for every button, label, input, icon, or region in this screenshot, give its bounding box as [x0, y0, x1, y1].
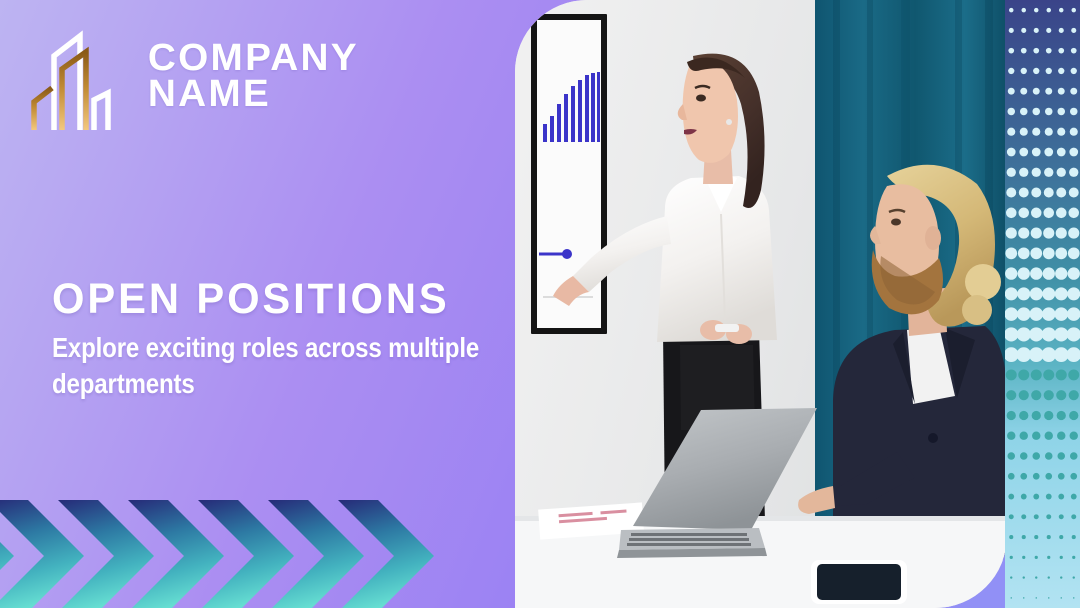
halftone-dot — [1044, 148, 1053, 157]
halftone-dot — [1070, 88, 1077, 95]
building-skyline-icon — [18, 14, 142, 138]
halftone-dot — [1071, 68, 1077, 74]
halftone-dot — [1073, 597, 1075, 599]
halftone-dot — [1030, 247, 1042, 259]
brand-name-line1: COMPANY — [148, 40, 359, 76]
halftone-dot — [1055, 247, 1067, 259]
halftone-dot — [1020, 452, 1028, 460]
halftone-dot — [1057, 411, 1066, 420]
halftone-dot — [1044, 168, 1053, 177]
halftone-dot — [1055, 267, 1067, 279]
halftone-dot — [1059, 514, 1064, 519]
halftone-dot — [1043, 228, 1054, 239]
halftone-dot — [1067, 287, 1080, 300]
halftone-dot — [1032, 108, 1040, 116]
halftone-dot — [1006, 369, 1017, 380]
halftone-dot — [1070, 452, 1078, 460]
halftone-dot — [1018, 228, 1029, 239]
halftone-dot — [1072, 535, 1076, 539]
halftone-dot — [1008, 68, 1014, 74]
halftone-dot — [1029, 307, 1043, 321]
halftone-dot — [1058, 473, 1065, 480]
halftone-dot — [1069, 148, 1078, 157]
halftone-dot — [1007, 128, 1015, 136]
halftone-dot — [1046, 494, 1052, 500]
halftone-dot — [1060, 556, 1063, 559]
smartphone — [811, 560, 907, 604]
halftone-dot — [1054, 327, 1068, 341]
halftone-dot — [1020, 88, 1027, 95]
halftone-dot — [1061, 597, 1063, 599]
halftone-dot — [1057, 108, 1065, 116]
halftone-dot — [1045, 108, 1053, 116]
halftone-dot — [1017, 327, 1031, 341]
halftone-dot — [1069, 390, 1079, 400]
halftone-dot — [1058, 48, 1064, 54]
halftone-dot — [1032, 148, 1041, 157]
halftone-dot — [1030, 287, 1043, 300]
chevron-band — [0, 500, 478, 608]
halftone-dot — [1044, 390, 1054, 400]
halftone-dot — [1059, 8, 1064, 13]
halftone-dot — [1033, 88, 1040, 95]
halftone-dot — [1043, 208, 1054, 219]
recruitment-poster: COMPANY NAME OPEN POSITIONS Explore exci… — [0, 0, 1080, 608]
halftone-dot — [1018, 247, 1030, 259]
halftone-dot — [1018, 369, 1029, 380]
halftone-dot — [1032, 432, 1040, 440]
meeting-photo — [515, 0, 1007, 608]
halftone-dot — [1031, 188, 1041, 198]
halftone-dot — [1009, 514, 1014, 519]
halftone-dot — [1057, 452, 1065, 460]
photo-illustration — [515, 0, 1007, 608]
halftone-dot — [1019, 168, 1028, 177]
halftone-dot — [1007, 148, 1016, 157]
halftone-dot — [1031, 390, 1041, 400]
halftone-dot — [1071, 494, 1077, 500]
halftone-dot — [1008, 88, 1015, 95]
halftone-dot — [1073, 576, 1075, 578]
halftone-dot — [1035, 556, 1038, 559]
halftone-dot — [1011, 597, 1013, 599]
halftone-dot — [1044, 188, 1054, 198]
halftone-dot — [1006, 208, 1017, 219]
halftone-dot — [1071, 514, 1076, 519]
subheadline: Explore exciting roles across multiple d… — [52, 330, 511, 402]
halftone-dot — [1045, 128, 1053, 136]
halftone-dot — [1069, 411, 1078, 420]
headline: OPEN POSITIONS — [52, 278, 498, 322]
halftone-dot — [1005, 267, 1017, 279]
halftone-dot — [1019, 188, 1029, 198]
halftone-dot — [1056, 369, 1067, 380]
halftone-dot — [1020, 432, 1028, 440]
halftone-dot — [1032, 452, 1040, 460]
halftone-dot — [1019, 411, 1028, 420]
halftone-dot — [1047, 535, 1051, 539]
halftone-dot — [1018, 208, 1029, 219]
chevron-group — [0, 500, 434, 608]
halftone-dot — [1047, 556, 1050, 559]
halftone-dot — [1034, 535, 1038, 539]
halftone-dot — [1043, 267, 1055, 279]
halftone-dot — [1021, 28, 1026, 33]
halftone-dot — [1034, 28, 1039, 33]
halftone-dot — [1036, 597, 1038, 599]
halftone-dot — [1022, 556, 1025, 559]
halftone-dot — [1007, 432, 1015, 440]
halftone-dot — [1056, 228, 1067, 239]
halftone-dot — [1021, 48, 1027, 54]
halftone-dot — [1045, 452, 1053, 460]
halftone-dot — [1021, 494, 1027, 500]
halftone-dot — [1007, 168, 1016, 177]
halftone-dot — [1071, 28, 1076, 33]
halftone-dot — [1009, 8, 1014, 13]
halftone-dot — [1005, 307, 1018, 321]
halftone-dot — [1059, 535, 1063, 539]
brand-logo: COMPANY NAME — [18, 14, 357, 138]
halftone-dot — [1060, 576, 1062, 578]
halftone-dot — [1069, 168, 1078, 177]
halftone-dot — [1057, 168, 1066, 177]
halftone-dot — [1021, 68, 1027, 74]
halftone-dot — [1057, 148, 1066, 157]
halftone-dot — [1031, 369, 1042, 380]
halftone-dot — [1031, 208, 1042, 219]
halftone-dot — [1058, 494, 1064, 500]
halftone-dot — [1007, 411, 1016, 420]
halftone-dot — [1033, 68, 1039, 74]
halftone-dot — [1068, 369, 1079, 380]
halftone-dot — [1008, 494, 1014, 500]
halftone-dot-pattern-icon — [1005, 0, 1080, 608]
halftone-dot — [1058, 88, 1065, 95]
halftone-dot — [1019, 148, 1028, 157]
halftone-dot — [1048, 576, 1050, 578]
halftone-dot — [1068, 247, 1080, 259]
halftone-dot — [1056, 390, 1066, 400]
halftone-dot — [1017, 307, 1031, 321]
chevron-arrow — [0, 500, 84, 608]
halftone-dot — [1034, 8, 1039, 13]
halftone-dot — [1045, 473, 1052, 480]
halftone-dot — [1070, 108, 1078, 116]
halftone-dot — [1042, 307, 1056, 321]
halftone-dot — [1047, 8, 1052, 13]
halftone-dot — [1010, 576, 1012, 578]
halftone-dot — [1071, 48, 1077, 54]
halftone-dot — [1044, 411, 1053, 420]
halftone-dot — [1023, 597, 1025, 599]
halftone-dot — [1072, 556, 1075, 559]
halftone-dot — [1067, 307, 1080, 321]
halftone-dot — [1056, 188, 1066, 198]
halftone-dot — [1055, 287, 1068, 300]
halftone-dot — [1072, 8, 1077, 13]
halftone-dot — [1057, 128, 1065, 136]
halftone-dot — [1070, 432, 1078, 440]
halftone-dot — [1059, 28, 1064, 33]
halftone-dot — [1021, 514, 1026, 519]
halftone-dot — [1046, 514, 1051, 519]
halftone-dot — [1005, 287, 1018, 300]
halftone-dot — [1043, 369, 1054, 380]
halftone-dot — [1035, 576, 1037, 578]
halftone-dot — [1046, 68, 1052, 74]
halftone-panel — [1005, 0, 1080, 608]
halftone-dot — [1070, 473, 1077, 480]
halftone-dot — [1006, 228, 1017, 239]
halftone-dot — [1008, 48, 1014, 54]
halftone-dot — [1068, 267, 1080, 279]
halftone-dot — [1029, 327, 1043, 341]
halftone-dot — [1018, 267, 1030, 279]
halftone-dot — [1020, 128, 1028, 136]
halftone-dot — [1043, 247, 1055, 259]
halftone-dot — [1017, 287, 1030, 300]
halftone-dot — [1056, 208, 1067, 219]
halftone-dot — [1020, 473, 1027, 480]
halftone-dot — [1033, 48, 1039, 54]
brand-name: COMPANY NAME — [148, 40, 359, 113]
halftone-dot — [1022, 8, 1027, 13]
halftone-dot — [1032, 128, 1040, 136]
halftone-dot — [1020, 108, 1028, 116]
laptop-keyboard — [627, 533, 751, 546]
halftone-dot — [1033, 494, 1039, 500]
halftone-dot — [1019, 390, 1029, 400]
halftone-dot — [1009, 535, 1013, 539]
halftone-dot — [1006, 390, 1016, 400]
brand-name-line2: NAME — [148, 76, 359, 112]
halftone-dot — [1031, 228, 1042, 239]
halftone-dot — [1042, 327, 1056, 341]
halftone-dot — [1034, 514, 1039, 519]
halftone-dot — [1046, 48, 1052, 54]
halftone-dot — [1022, 535, 1026, 539]
halftone-dot — [1008, 473, 1015, 480]
halftone-dot — [1070, 128, 1078, 136]
halftone-dot — [1030, 267, 1042, 279]
halftone-dot — [1068, 228, 1079, 239]
halftone-dot — [1058, 68, 1064, 74]
halftone-dot — [1054, 307, 1068, 321]
halftone-dot — [1010, 556, 1013, 559]
halftone-dot — [1007, 452, 1015, 460]
halftone-dot — [1045, 432, 1053, 440]
halftone-dot — [1005, 247, 1017, 259]
halftone-dot — [1068, 208, 1079, 219]
halftone-dot — [1057, 432, 1065, 440]
headline-block: OPEN POSITIONS Explore exciting roles ac… — [52, 278, 512, 402]
halftone-dot — [1023, 576, 1025, 578]
halftone-dot — [1032, 411, 1041, 420]
halftone-dot — [1042, 287, 1055, 300]
halftone-dot — [1007, 108, 1015, 116]
halftone-dot — [1009, 28, 1014, 33]
halftone-dot — [1046, 28, 1051, 33]
halftone-dot — [1006, 188, 1016, 198]
halftone-dot — [1045, 88, 1052, 95]
halftone-dot — [1032, 168, 1041, 177]
halftone-dot — [1033, 473, 1040, 480]
halftone-dot — [1069, 188, 1079, 198]
halftone-dot — [1048, 597, 1050, 599]
